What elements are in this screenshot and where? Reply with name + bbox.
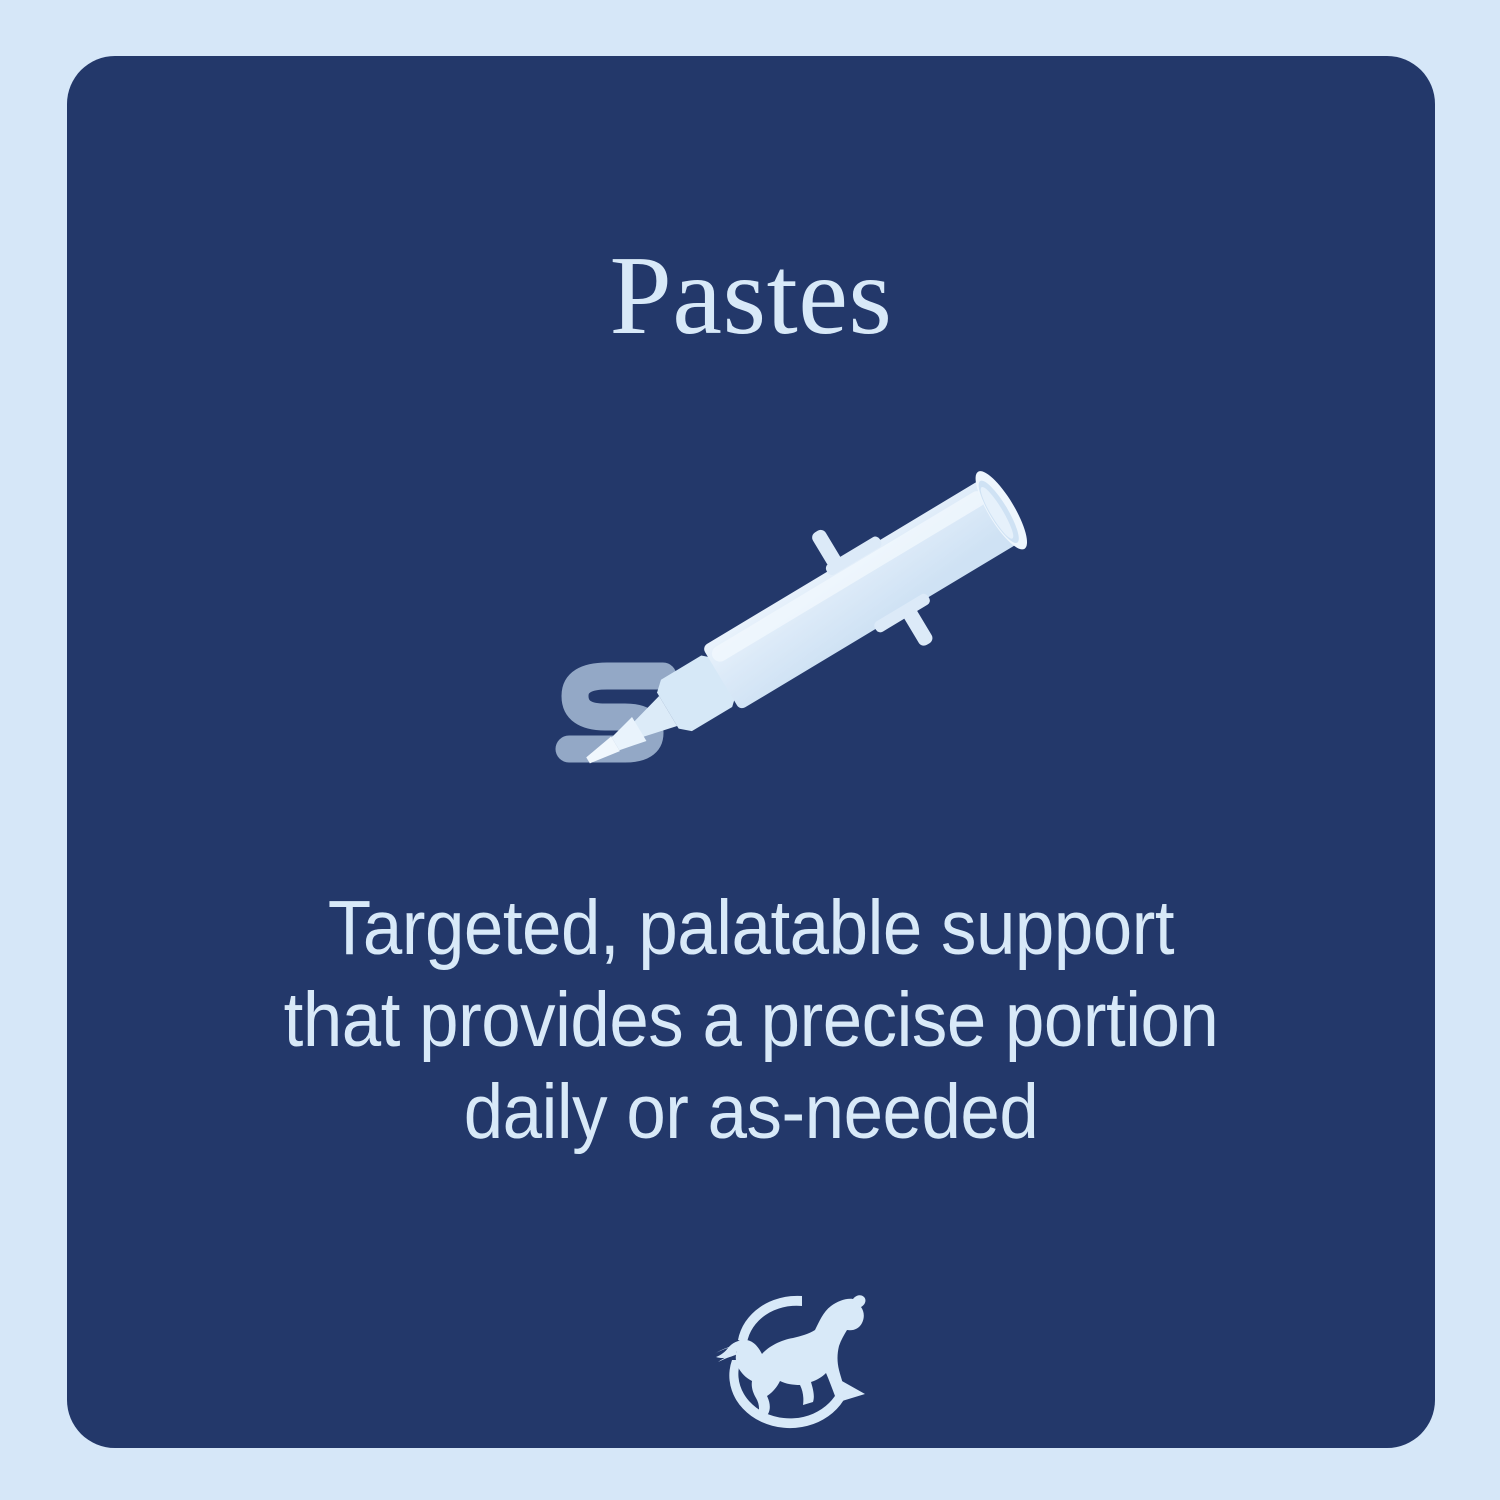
page-title: Pastes — [67, 238, 1435, 356]
syringe-body — [548, 438, 1052, 825]
feature-description: Targeted, palatable support that provide… — [205, 882, 1298, 1158]
page-root: Pastes — [0, 0, 1500, 1500]
horse-icon — [714, 1295, 865, 1428]
description-line-2: that provides a precise portion — [205, 974, 1298, 1066]
description-line-1: Targeted, palatable support — [205, 882, 1298, 974]
description-line-3: daily or as-needed — [205, 1066, 1298, 1158]
brand-logo — [705, 1292, 901, 1432]
pastes-feature-card: Pastes — [67, 56, 1435, 1448]
paste-syringe-illustration — [457, 386, 1177, 856]
